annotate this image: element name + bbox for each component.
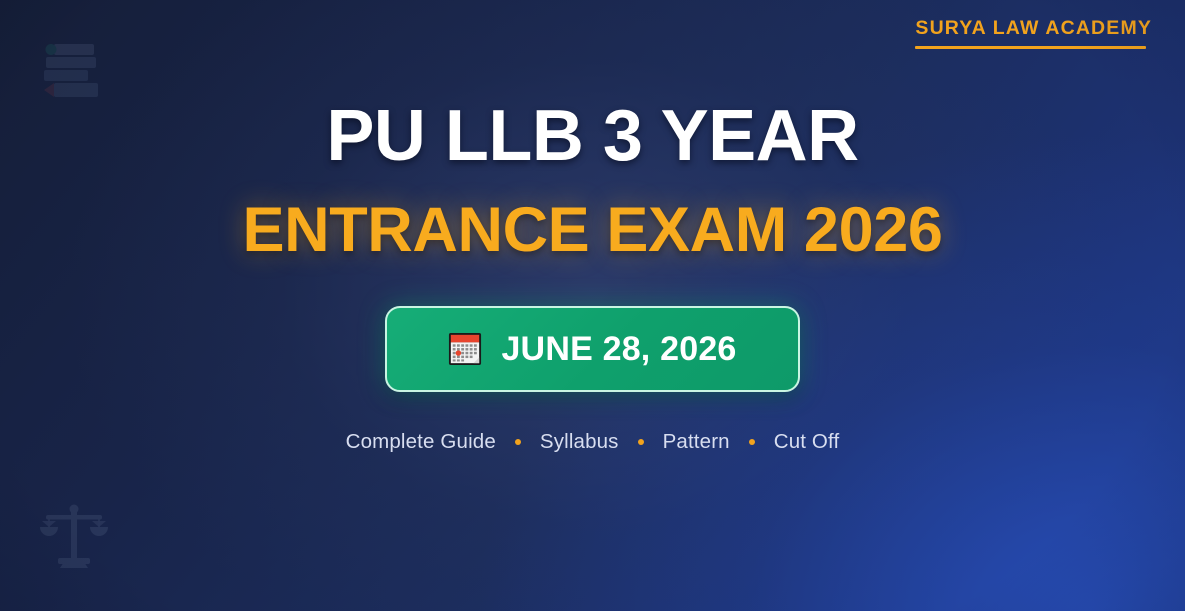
feature-item-pattern: Pattern <box>663 430 730 454</box>
page-subtitle: ENTRANCE EXAM 2026 <box>243 199 943 262</box>
scales-of-justice-icon <box>38 500 110 572</box>
brand-lockup: SURYA LAW ACADEMY <box>915 18 1152 49</box>
feature-list: Complete Guide Syllabus Pattern Cut Off <box>346 430 840 454</box>
exam-date-label: JUNE 28, 2026 <box>501 330 736 369</box>
hero-content: PU LLB 3 YEAR ENTRANCE EXAM 2026 <box>0 100 1185 454</box>
feature-separator-dot <box>515 439 521 445</box>
page-title: PU LLB 3 YEAR <box>326 100 858 172</box>
brand-underline <box>915 46 1146 49</box>
books-icon <box>40 40 102 100</box>
brand-name: SURYA LAW ACADEMY <box>915 18 1152 39</box>
feature-item-complete-guide: Complete Guide <box>346 430 496 454</box>
feature-item-cut-off: Cut Off <box>774 430 840 454</box>
feature-separator-dot <box>638 439 644 445</box>
feature-item-syllabus: Syllabus <box>540 430 619 454</box>
promo-banner: SURYA LAW ACADEMY PU LLB 3 YEAR ENTRANCE… <box>0 0 1185 611</box>
feature-separator-dot <box>749 439 755 445</box>
calendar-icon <box>448 332 482 366</box>
exam-date-badge[interactable]: JUNE 28, 2026 <box>385 306 800 392</box>
